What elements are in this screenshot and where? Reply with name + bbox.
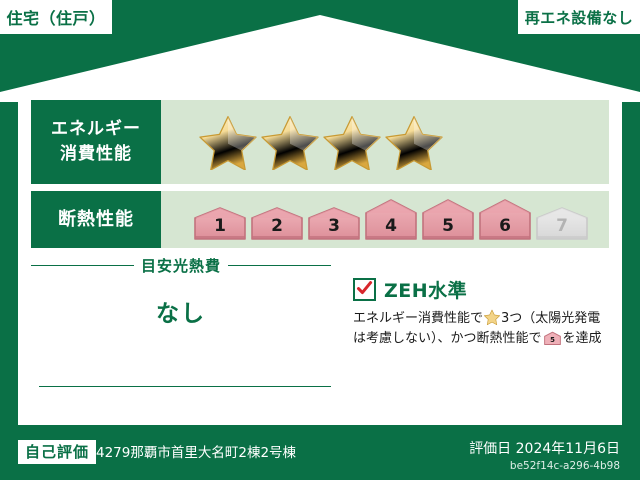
house-badge-icon xyxy=(250,206,304,242)
tab-building-type[interactable]: 住宅（住戸） xyxy=(0,0,112,34)
insulation-performance-label: 断熱性能 xyxy=(31,191,161,248)
zeh-standard-title: ZEH水準 xyxy=(384,276,467,303)
zeh-standard-header: ZEH水準 xyxy=(353,276,609,303)
energy-performance-body xyxy=(161,100,609,184)
self-evaluation-badge: 自己評価 xyxy=(18,440,96,464)
page-title: 建築物省エネ法に基づく 省エネ性能ラベル xyxy=(0,38,640,89)
insulation-level-badge: 4 xyxy=(364,198,418,242)
energy-performance-label-line2: 消費性能 xyxy=(60,142,132,167)
evaluation-date: 評価日 2024年11月6日 xyxy=(469,440,620,458)
utility-cost-bottom-rule xyxy=(39,386,331,387)
svg-text:5: 5 xyxy=(550,336,555,344)
label-card: エネルギー 消費性能 xyxy=(18,88,622,425)
utility-cost-rule-left xyxy=(31,265,134,266)
check-icon-glyph xyxy=(356,280,373,297)
house-badge-icon xyxy=(421,198,475,242)
title-main: 省エネ性能ラベル xyxy=(0,57,640,89)
insulation-performance-row: 断熱性能 1 xyxy=(31,191,609,248)
house-badge-icon xyxy=(535,206,589,242)
star-icon xyxy=(385,114,443,170)
utility-cost-header: 目安光熱費 xyxy=(31,256,331,274)
insulation-level-badge: 1 xyxy=(193,206,247,242)
utility-cost-value: なし xyxy=(31,294,331,328)
insulation-level-badge: 3 xyxy=(307,206,361,242)
footer: 自己評価 4279那覇市首里大名町2棟2号棟 評価日 2024年11月6日 be… xyxy=(0,432,640,480)
zeh-standard-description: エネルギー消費性能で 3つ（太陽光発電は考慮しない）、かつ断熱性能で 5 を達成 xyxy=(353,309,609,349)
insulation-level-badge: 2 xyxy=(250,206,304,242)
insulation-level-badge: 6 xyxy=(478,198,532,242)
insulation-performance-body: 1 2 3 xyxy=(161,191,609,248)
insulation-level-badge: 7 xyxy=(535,206,589,242)
star-rating xyxy=(161,114,443,170)
inline-house-badge-icon: 5 xyxy=(544,331,561,346)
utility-cost-rule-right xyxy=(228,265,331,266)
lower-section: 目安光熱費 なし ZEH水準 エネルギー消費性能で 3つ（太陽光発電は考慮しない… xyxy=(31,256,609,412)
utility-cost-title: 目安光熱費 xyxy=(141,255,221,276)
house-badge-icon xyxy=(364,198,418,242)
title-subtitle: 建築物省エネ法に基づく xyxy=(0,38,640,56)
house-badge-icon xyxy=(307,206,361,242)
zeh-standard-block: ZEH水準 エネルギー消費性能で 3つ（太陽光発電は考慮しない）、かつ断熱性能で… xyxy=(353,276,609,349)
house-badge-icon xyxy=(478,198,532,242)
energy-performance-label: エネルギー 消費性能 xyxy=(31,100,161,184)
star-icon xyxy=(323,114,381,170)
property-address: 4279那覇市首里大名町2棟2号棟 xyxy=(96,444,296,462)
check-icon xyxy=(353,278,376,301)
tab-renewable-energy[interactable]: 再エネ設備なし xyxy=(518,0,640,34)
tab-renewable-energy-label: 再エネ設備なし xyxy=(525,7,634,28)
insulation-level-scale: 1 2 3 xyxy=(161,198,589,242)
star-icon xyxy=(199,114,257,170)
star-icon xyxy=(261,114,319,170)
energy-performance-row: エネルギー 消費性能 xyxy=(31,100,609,184)
tab-building-type-label: 住宅（住戸） xyxy=(6,5,105,29)
house-badge-icon xyxy=(193,206,247,242)
inline-star-icon xyxy=(484,309,500,325)
label-uuid: be52f14c-a296-4b98 xyxy=(510,459,620,473)
insulation-level-badge: 5 xyxy=(421,198,475,242)
energy-performance-label-line1: エネルギー xyxy=(51,117,141,142)
insulation-performance-label-text: 断熱性能 xyxy=(58,209,134,231)
